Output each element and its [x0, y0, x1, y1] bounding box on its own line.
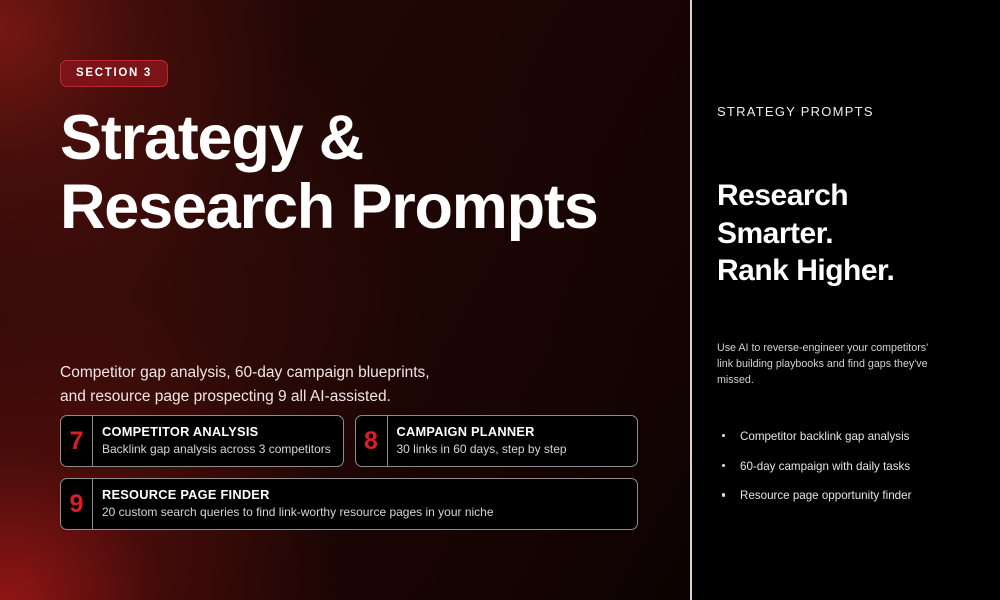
card-body: CAMPAIGN PLANNER 30 links in 60 days, st…	[388, 416, 576, 466]
card-body: COMPETITOR ANALYSIS Backlink gap analysi…	[93, 416, 340, 466]
page-title: Strategy & Research Prompts	[60, 104, 598, 243]
feature-bullet-list: Competitor backlink gap analysis 60-day …	[721, 429, 956, 518]
right-panel: STRATEGY PROMPTS Research Smarter. Rank …	[692, 0, 1000, 600]
card-description: 20 custom search queries to find link-wo…	[102, 505, 494, 520]
right-content: STRATEGY PROMPTS Research Smarter. Rank …	[717, 0, 982, 600]
card-number: 7	[61, 416, 93, 466]
card-description: Backlink gap analysis across 3 competito…	[102, 442, 331, 457]
right-body-text: Use AI to reverse-engineer your competit…	[717, 340, 945, 388]
prompt-card-8[interactable]: 8 CAMPAIGN PLANNER 30 links in 60 days, …	[355, 415, 639, 467]
left-content: SECTION 3 Strategy & Research Prompts Co…	[60, 0, 650, 600]
card-number: 9	[61, 479, 93, 529]
prompt-card-list: 7 COMPETITOR ANALYSIS Backlink gap analy…	[60, 415, 638, 530]
list-item: Competitor backlink gap analysis	[721, 429, 956, 445]
page-subtitle: Competitor gap analysis, 60-day campaign…	[60, 361, 430, 408]
card-number: 8	[356, 416, 388, 466]
card-title: COMPETITOR ANALYSIS	[102, 424, 331, 439]
card-description: 30 links in 60 days, step by step	[397, 442, 567, 457]
right-heading: Research Smarter. Rank Higher.	[717, 177, 894, 290]
list-item: 60-day campaign with daily tasks	[721, 459, 956, 475]
card-row-bottom: 9 RESOURCE PAGE FINDER 20 custom search …	[60, 478, 638, 530]
card-row-top: 7 COMPETITOR ANALYSIS Backlink gap analy…	[60, 415, 638, 467]
card-body: RESOURCE PAGE FINDER 20 custom search qu…	[93, 479, 503, 529]
card-title: RESOURCE PAGE FINDER	[102, 487, 494, 502]
right-eyebrow-label: STRATEGY PROMPTS	[717, 104, 874, 119]
slide-root: SECTION 3 Strategy & Research Prompts Co…	[0, 0, 1000, 600]
section-badge: SECTION 3	[60, 60, 168, 87]
card-title: CAMPAIGN PLANNER	[397, 424, 567, 439]
left-panel: SECTION 3 Strategy & Research Prompts Co…	[0, 0, 690, 600]
list-item: Resource page opportunity finder	[721, 488, 956, 504]
prompt-card-9[interactable]: 9 RESOURCE PAGE FINDER 20 custom search …	[60, 478, 638, 530]
prompt-card-7[interactable]: 7 COMPETITOR ANALYSIS Backlink gap analy…	[60, 415, 344, 467]
